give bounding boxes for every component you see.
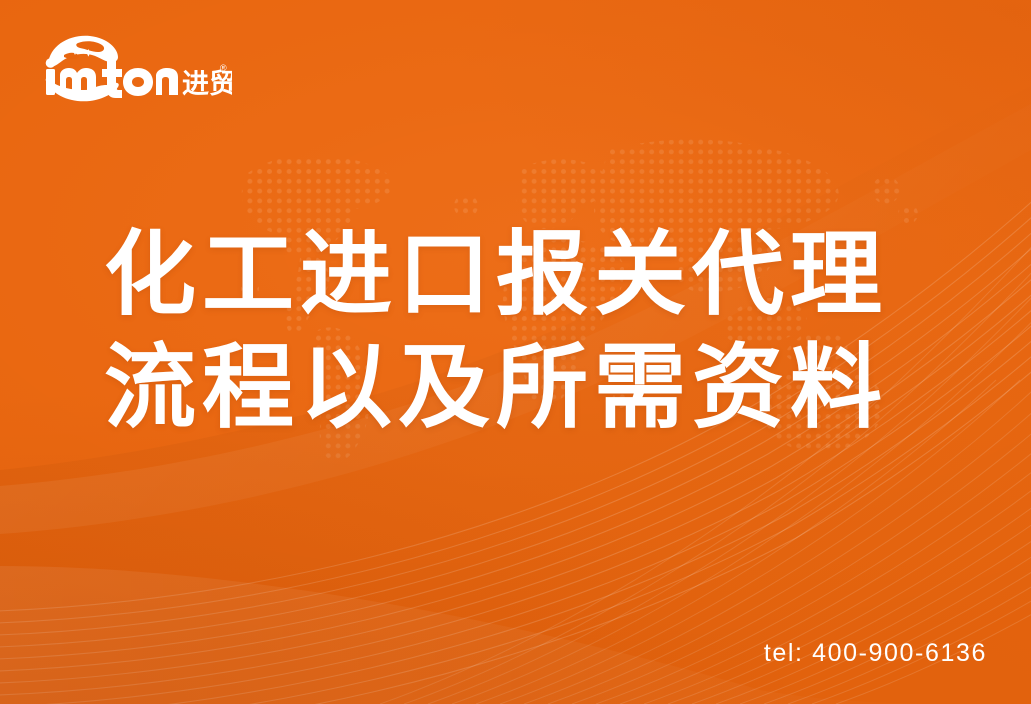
headline-line-1: 化工进口报关代理 [104, 218, 954, 331]
trademark-icon: ® [220, 63, 227, 73]
logo-chinese-name: 进贸通 [182, 69, 232, 100]
logo[interactable]: imton [42, 33, 232, 107]
headline-line-2: 流程以及所需资料 [104, 331, 954, 444]
logo-wordmark [46, 58, 178, 98]
banner-canvas: imton [0, 0, 1031, 704]
contact-phone[interactable]: tel: 400-900-6136 [764, 639, 987, 668]
page-title: 化工进口报关代理 流程以及所需资料 [104, 218, 954, 444]
